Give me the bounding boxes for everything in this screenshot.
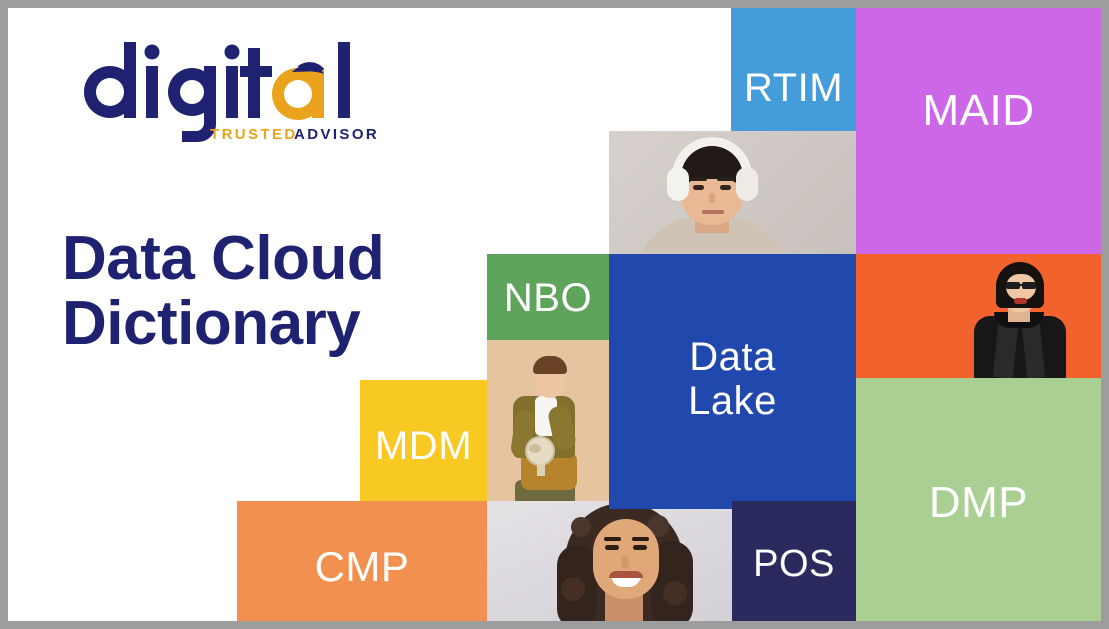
logo-tagline-trusted: TRUSTED <box>210 126 298 143</box>
tile-maid[interactable]: MAID <box>856 8 1101 254</box>
photo-globe-man <box>487 340 609 509</box>
tile-data-lake[interactable]: Data Lake <box>609 254 856 509</box>
tile-mdm[interactable]: MDM <box>360 380 487 509</box>
tile-dmp-label: DMP <box>856 478 1101 528</box>
page-title-line-1: Data Cloud <box>62 224 384 293</box>
tile-rtim[interactable]: RTIM <box>731 8 856 131</box>
tile-dmp[interactable]: DMP <box>856 378 1101 621</box>
tile-pos-label: POS <box>732 543 856 586</box>
tile-pos[interactable]: POS <box>732 501 856 621</box>
tile-nbo-label: NBO <box>487 276 609 321</box>
slide-canvas: TRUSTED ADVISOR Data Cloud Dictionary <box>8 8 1101 621</box>
tile-mdm-label: MDM <box>360 424 487 469</box>
tile-cmp[interactable]: CMP <box>237 501 487 621</box>
photo-curly-woman <box>487 501 732 621</box>
logo-svg: TRUSTED ADVISOR <box>76 36 386 146</box>
tile-data-lake-label-line-2: Lake <box>609 380 856 423</box>
slide-frame: TRUSTED ADVISOR Data Cloud Dictionary <box>0 0 1109 629</box>
logo-tagline-advisor: ADVISOR <box>294 126 379 143</box>
page-title: Data Cloud Dictionary <box>62 226 462 356</box>
tile-data-lake-label-line-1: Data <box>609 336 856 379</box>
tile-maid-label: MAID <box>856 86 1101 136</box>
photo-sunglasses-woman <box>856 254 1101 378</box>
digital-trusted-advisor-logo: TRUSTED ADVISOR <box>76 36 386 146</box>
tile-nbo[interactable]: NBO <box>487 254 609 340</box>
photo-headphones-man <box>609 131 856 254</box>
tile-rtim-label: RTIM <box>731 66 856 111</box>
page-title-line-2: Dictionary <box>62 291 462 356</box>
tile-cmp-label: CMP <box>237 543 487 591</box>
